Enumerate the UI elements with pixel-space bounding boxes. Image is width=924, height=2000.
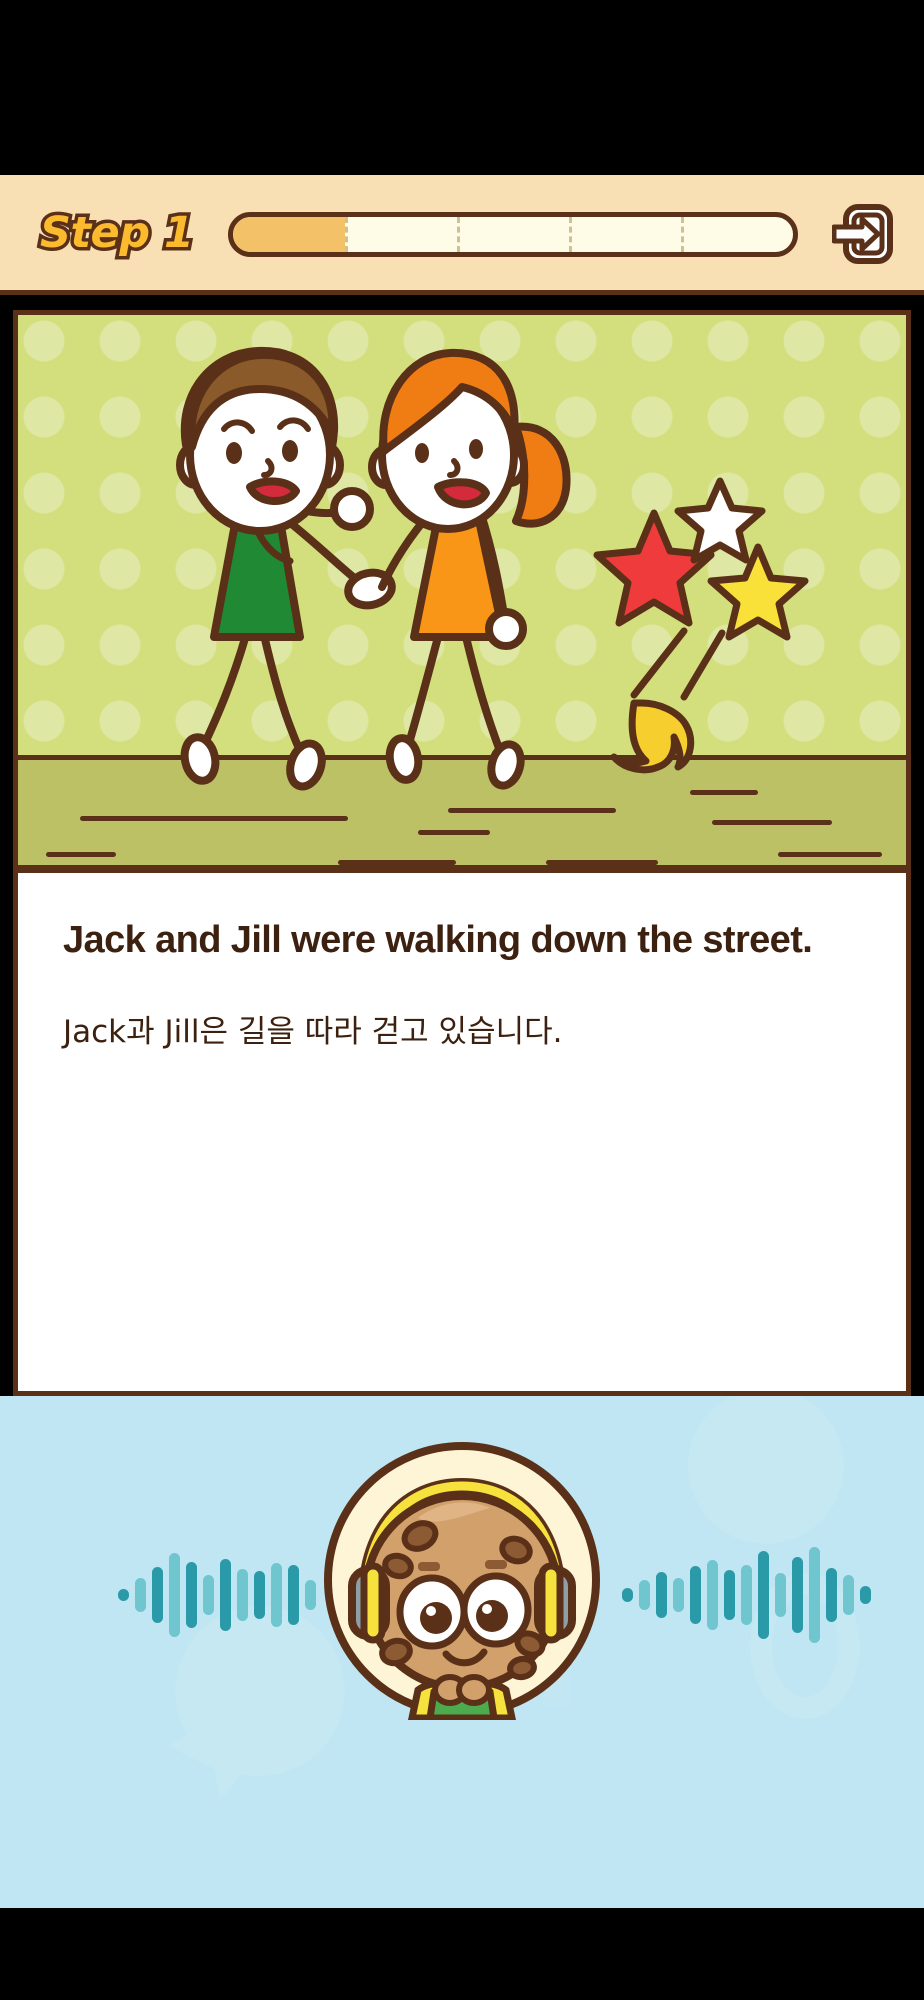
waveform-bar bbox=[305, 1580, 316, 1610]
waveform-bar bbox=[656, 1572, 667, 1618]
story-illustration bbox=[13, 310, 911, 870]
waveform-bar bbox=[203, 1575, 214, 1615]
waveform-bar bbox=[673, 1578, 684, 1612]
waveform-bar bbox=[220, 1559, 231, 1631]
waveform-bar bbox=[860, 1586, 871, 1604]
sentence-korean: Jack과 Jill은 길을 따라 걷고 있습니다. bbox=[63, 1010, 861, 1055]
waveform-bar bbox=[792, 1557, 803, 1633]
star-red bbox=[597, 513, 711, 623]
watermark-pill-icon bbox=[676, 1396, 856, 1556]
waveform-bar bbox=[690, 1566, 701, 1624]
progress-tick bbox=[345, 217, 348, 252]
progress-tick bbox=[681, 217, 684, 252]
cookie-character-avatar[interactable] bbox=[322, 1440, 602, 1720]
waveform-bar bbox=[843, 1575, 854, 1615]
waveform-bar bbox=[288, 1565, 299, 1625]
waveform-bar bbox=[775, 1573, 786, 1617]
waveform-bar bbox=[639, 1580, 650, 1610]
characters-svg bbox=[18, 315, 906, 865]
waveform-right bbox=[622, 1540, 871, 1650]
waveform-bar bbox=[809, 1547, 820, 1643]
waveform-bar bbox=[826, 1568, 837, 1622]
waveform-bar bbox=[758, 1551, 769, 1639]
progress-track bbox=[228, 212, 798, 257]
waveform-bar bbox=[152, 1567, 163, 1623]
waveform-bar bbox=[135, 1578, 146, 1612]
waveform-bar bbox=[741, 1565, 752, 1625]
waveform-bar bbox=[237, 1569, 248, 1621]
waveform-bar bbox=[271, 1563, 282, 1627]
waveform-bar bbox=[118, 1589, 129, 1601]
progress-tick bbox=[569, 217, 572, 252]
sentence-english: Jack and Jill were walking down the stre… bbox=[63, 913, 861, 968]
star-white bbox=[678, 481, 762, 560]
waveform-bar bbox=[707, 1560, 718, 1630]
step-progress-bar bbox=[228, 212, 798, 257]
waveform-bar bbox=[254, 1571, 265, 1619]
waveform-bar bbox=[169, 1553, 180, 1637]
page-title: Step 1 bbox=[40, 208, 193, 258]
exit-icon[interactable] bbox=[832, 203, 894, 265]
progress-tick bbox=[457, 217, 460, 252]
waveform-bar bbox=[622, 1588, 633, 1602]
progress-fill bbox=[233, 217, 345, 252]
app-screen: Step 1 bbox=[0, 0, 924, 2000]
banana-peel bbox=[614, 703, 691, 770]
story-text-card: Jack and Jill were walking down the stre… bbox=[13, 868, 911, 1396]
waveform-left bbox=[118, 1540, 316, 1650]
waveform-bar bbox=[186, 1562, 197, 1628]
waveform-bar bbox=[724, 1570, 735, 1620]
star-yellow bbox=[711, 547, 805, 637]
